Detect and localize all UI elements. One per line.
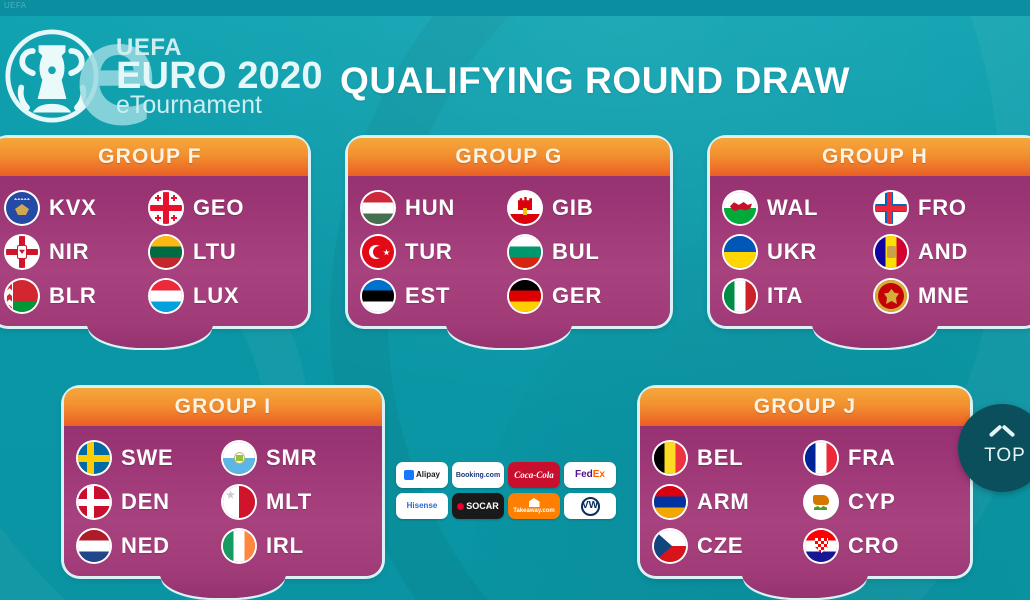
team-code: FRO: [918, 195, 967, 221]
group-g-left-column: HUN TUR EST: [362, 192, 509, 312]
team-code: KVX: [49, 195, 97, 221]
team-code: IRL: [266, 533, 304, 559]
team-code: UKR: [767, 239, 817, 265]
group-card-i: GROUP I SWE DEN NED SMR MLT IRL: [64, 388, 382, 576]
team-code: SMR: [266, 445, 317, 471]
team-code: NIR: [49, 239, 89, 265]
estonia-flag-icon: [362, 280, 394, 312]
belarus-flag-icon: [6, 280, 38, 312]
page-title: QUALIFYING ROUND DRAW: [340, 60, 850, 102]
team-row[interactable]: DEN: [78, 486, 223, 518]
team-row[interactable]: BLR: [6, 280, 150, 312]
team-code: WAL: [767, 195, 818, 221]
team-code: MLT: [266, 489, 312, 515]
chevron-up-icon: [990, 429, 1014, 443]
group-card-j: GROUP J BEL ARM CZE FRA CYP CRO: [640, 388, 970, 576]
sponsor-label: Coca-Cola: [514, 471, 554, 480]
group-header-h: GROUP H: [710, 138, 1030, 176]
team-row[interactable]: IRL: [223, 530, 368, 562]
georgia-flag-icon: [150, 192, 182, 224]
denmark-flag-icon: [78, 486, 110, 518]
group-i-right-column: SMR MLT IRL: [223, 442, 368, 562]
team-code: BUL: [552, 239, 600, 265]
top-button-label: TOP: [984, 445, 1026, 467]
sponsor-label: Hisense: [407, 502, 438, 510]
brand-logo: UEFA EURO 2020 eTournament: [4, 20, 324, 130]
group-g-right-column: GIB BUL GER: [509, 192, 656, 312]
san-marino-flag-icon: [223, 442, 255, 474]
group-header-f: GROUP F: [0, 138, 308, 176]
wales-flag-icon: [724, 192, 756, 224]
team-row[interactable]: TUR: [362, 236, 509, 268]
team-row[interactable]: SMR: [223, 442, 368, 474]
hungary-flag-icon: [362, 192, 394, 224]
team-code: ARM: [697, 489, 750, 515]
gibraltar-flag-icon: [509, 192, 541, 224]
team-row[interactable]: MNE: [875, 280, 1026, 312]
volkswagen-logo-icon[interactable]: VW: [564, 493, 616, 519]
alipay-logo-icon[interactable]: Alipay: [396, 462, 448, 488]
brand-line-euro2020: EURO 2020: [116, 57, 336, 95]
takeaway-com-logo-icon[interactable]: Takeaway.com: [508, 493, 560, 519]
armenia-flag-icon: [654, 486, 686, 518]
germany-flag-icon: [509, 280, 541, 312]
malta-flag-icon: [223, 486, 255, 518]
team-code: BEL: [697, 445, 743, 471]
group-f-left-column: KVX NIR BLR: [6, 192, 150, 312]
team-row[interactable]: KVX: [6, 192, 150, 224]
cyprus-flag-icon: [805, 486, 837, 518]
group-title-f: GROUP F: [98, 145, 202, 169]
croatia-flag-icon: [805, 530, 837, 562]
socar-logo-icon[interactable]: SOCAR: [452, 493, 504, 519]
team-row[interactable]: FRO: [875, 192, 1026, 224]
team-row[interactable]: GEO: [150, 192, 294, 224]
team-row[interactable]: ARM: [654, 486, 805, 518]
sweden-flag-icon: [78, 442, 110, 474]
group-title-i: GROUP I: [175, 395, 272, 419]
sponsor-label: SOCAR: [466, 502, 499, 511]
booking-com-logo-icon[interactable]: Booking.com: [452, 462, 504, 488]
team-row[interactable]: GER: [509, 280, 656, 312]
team-row[interactable]: FRA: [805, 442, 956, 474]
kosovo-flag-icon: [6, 192, 38, 224]
france-flag-icon: [805, 442, 837, 474]
group-header-g: GROUP G: [348, 138, 670, 176]
team-code: GER: [552, 283, 602, 309]
sponsor-label: Alipay: [416, 471, 440, 479]
group-h-left-column: WAL UKR ITA: [724, 192, 875, 312]
montenegro-flag-icon: [875, 280, 907, 312]
hisense-logo-icon[interactable]: Hisense: [396, 493, 448, 519]
sponsor-label: Booking.com: [456, 472, 500, 479]
team-code: EST: [405, 283, 450, 309]
northern-ireland-flag-icon: [6, 236, 38, 268]
team-row[interactable]: HUN: [362, 192, 509, 224]
lithuania-flag-icon: [150, 236, 182, 268]
team-code: LTU: [193, 239, 237, 265]
team-code: MNE: [918, 283, 969, 309]
group-f-right-column: GEO LTU LUX: [150, 192, 294, 312]
team-row[interactable]: GIB: [509, 192, 656, 224]
team-code: CRO: [848, 533, 899, 559]
team-row[interactable]: NED: [78, 530, 223, 562]
team-code: TUR: [405, 239, 453, 265]
brand-text: UEFA EURO 2020 eTournament: [116, 36, 336, 118]
ukraine-flag-icon: [724, 236, 756, 268]
team-code: BLR: [49, 283, 97, 309]
bulgaria-flag-icon: [509, 236, 541, 268]
team-row[interactable]: ITA: [724, 280, 875, 312]
uefa-watermark: UEFA: [4, 1, 27, 10]
team-code: LUX: [193, 283, 239, 309]
team-code: CZE: [697, 533, 743, 559]
group-header-i: GROUP I: [64, 388, 382, 426]
team-code: GIB: [552, 195, 594, 221]
sponsor-label: Takeaway.com: [513, 508, 554, 514]
group-j-left-column: BEL ARM CZE: [654, 442, 805, 562]
team-code: AND: [918, 239, 968, 265]
team-row[interactable]: WAL: [724, 192, 875, 224]
sponsor-bar: Alipay Booking.com Coca-Cola FedEx Hisen…: [396, 462, 616, 519]
team-row[interactable]: CRO: [805, 530, 956, 562]
team-row[interactable]: BUL: [509, 236, 656, 268]
group-title-j: GROUP J: [754, 395, 857, 419]
czech-republic-flag-icon: [654, 530, 686, 562]
coca-cola-logo-icon[interactable]: Coca-Cola: [508, 462, 560, 488]
team-code: DEN: [121, 489, 170, 515]
team-row[interactable]: NIR: [6, 236, 150, 268]
fedex-logo-icon[interactable]: FedEx: [564, 462, 616, 488]
team-code: ITA: [767, 283, 803, 309]
group-j-right-column: FRA CYP CRO: [805, 442, 956, 562]
team-code: CYP: [848, 489, 896, 515]
team-row[interactable]: UKR: [724, 236, 875, 268]
team-code: GEO: [193, 195, 244, 221]
belgium-flag-icon: [654, 442, 686, 474]
group-i-left-column: SWE DEN NED: [78, 442, 223, 562]
team-code: SWE: [121, 445, 174, 471]
group-h-right-column: FRO AND MNE: [875, 192, 1026, 312]
andorra-flag-icon: [875, 236, 907, 268]
team-row[interactable]: MLT: [223, 486, 368, 518]
team-row[interactable]: LUX: [150, 280, 294, 312]
group-card-g: GROUP G HUN TUR EST GIB BUL GER: [348, 138, 670, 326]
luxembourg-flag-icon: [150, 280, 182, 312]
team-row[interactable]: AND: [875, 236, 1026, 268]
top-strip: [0, 0, 1030, 16]
team-row[interactable]: LTU: [150, 236, 294, 268]
team-row[interactable]: BEL: [654, 442, 805, 474]
turkey-flag-icon: [362, 236, 394, 268]
group-title-g: GROUP G: [455, 145, 562, 169]
team-row[interactable]: CZE: [654, 530, 805, 562]
team-code: NED: [121, 533, 170, 559]
team-row[interactable]: EST: [362, 280, 509, 312]
team-code: FRA: [848, 445, 896, 471]
faroe-islands-flag-icon: [875, 192, 907, 224]
italy-flag-icon: [724, 280, 756, 312]
team-row[interactable]: CYP: [805, 486, 956, 518]
page-header: UEFA EURO 2020 eTournament QUALIFYING RO…: [0, 16, 1030, 130]
team-code: HUN: [405, 195, 455, 221]
group-header-j: GROUP J: [640, 388, 970, 426]
group-title-h: GROUP H: [822, 145, 928, 169]
ireland-flag-icon: [223, 530, 255, 562]
group-card-h: GROUP H WAL UKR ITA FRO AND MNE: [710, 138, 1030, 326]
netherlands-flag-icon: [78, 530, 110, 562]
team-row[interactable]: SWE: [78, 442, 223, 474]
group-card-f: GROUP F KVX NIR BLR GEO LTU LUX: [0, 138, 308, 326]
